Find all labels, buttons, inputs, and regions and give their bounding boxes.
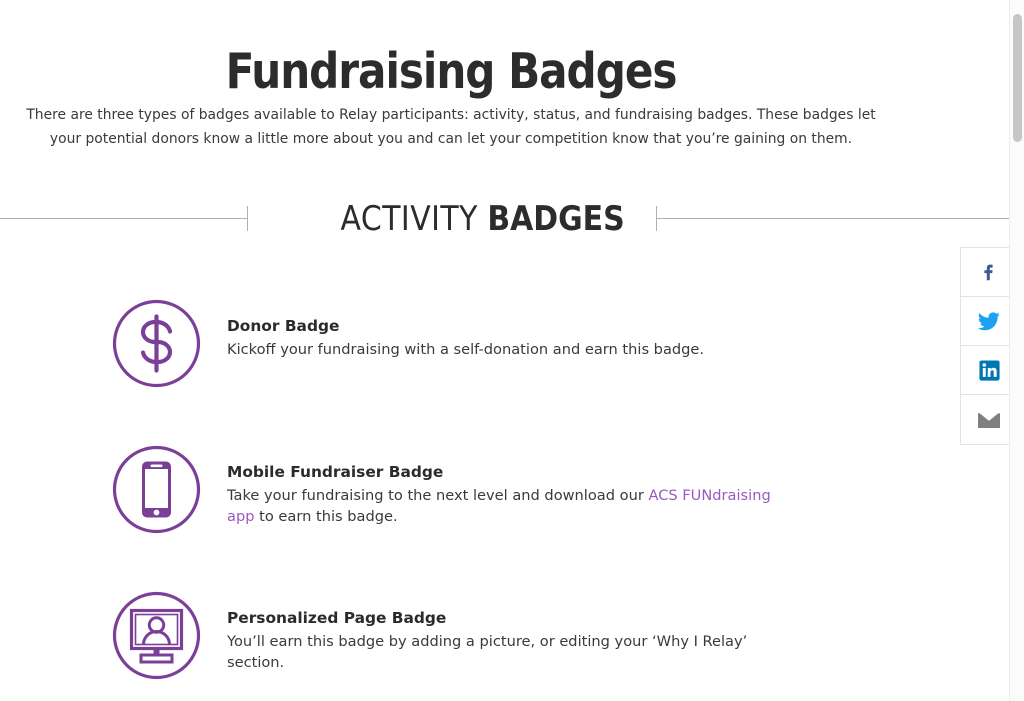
badge-description-text-after: to earn this badge. <box>254 508 397 525</box>
badge-title: Personalized Page Badge <box>227 608 787 629</box>
page-title: Fundraising Badges <box>63 41 839 103</box>
section-rule-left-cap <box>247 206 248 231</box>
section-title-bold: BADGES <box>487 199 624 239</box>
badge-text-block: Donor Badge Kickoff your fundraising wit… <box>227 316 787 360</box>
linkedin-icon <box>978 359 1001 382</box>
share-email-button[interactable] <box>961 395 1009 444</box>
twitter-icon <box>976 308 1002 334</box>
facebook-icon <box>977 260 1001 284</box>
monitor-person-circle-icon <box>110 589 203 682</box>
section-title: ACTIVITY BADGES <box>309 196 656 242</box>
mobile-phone-circle-icon <box>110 443 203 536</box>
browser-scrollbar-thumb[interactable] <box>1013 14 1022 142</box>
badge-description: Kickoff your fundraising with a self-don… <box>227 339 779 360</box>
browser-scrollbar-track[interactable] <box>1009 0 1024 701</box>
share-linkedin-button[interactable] <box>961 346 1009 395</box>
badge-description: You’ll earn this badge by adding a pictu… <box>227 631 779 673</box>
badge-description-text: Kickoff your fundraising with a self-don… <box>227 341 704 358</box>
page-intro-paragraph: There are three types of badges availabl… <box>23 103 880 151</box>
badge-description-text: You’ll earn this badge by adding a pictu… <box>227 633 747 671</box>
section-header-activity-badges: ACTIVITY BADGES <box>0 196 1009 244</box>
badge-description: Take your fundraising to the next level … <box>227 485 779 527</box>
share-twitter-button[interactable] <box>961 297 1009 346</box>
section-rule-left <box>0 218 248 219</box>
badge-text-block: Personalized Page Badge You’ll earn this… <box>227 608 787 673</box>
envelope-icon <box>976 410 1002 430</box>
dollar-circle-icon <box>110 297 203 390</box>
section-rule-right <box>656 218 1009 219</box>
share-facebook-button[interactable] <box>961 248 1009 297</box>
badge-text-block: Mobile Fundraiser Badge Take your fundra… <box>227 462 787 527</box>
page-content: Fundraising Badges There are three types… <box>0 0 1009 701</box>
badge-title: Mobile Fundraiser Badge <box>227 462 787 483</box>
badge-description-text-before: Take your fundraising to the next level … <box>227 487 648 504</box>
section-title-light: ACTIVITY <box>341 199 478 239</box>
social-share-rail <box>960 247 1009 445</box>
section-rule-right-cap <box>656 206 657 231</box>
badge-title: Donor Badge <box>227 316 787 337</box>
